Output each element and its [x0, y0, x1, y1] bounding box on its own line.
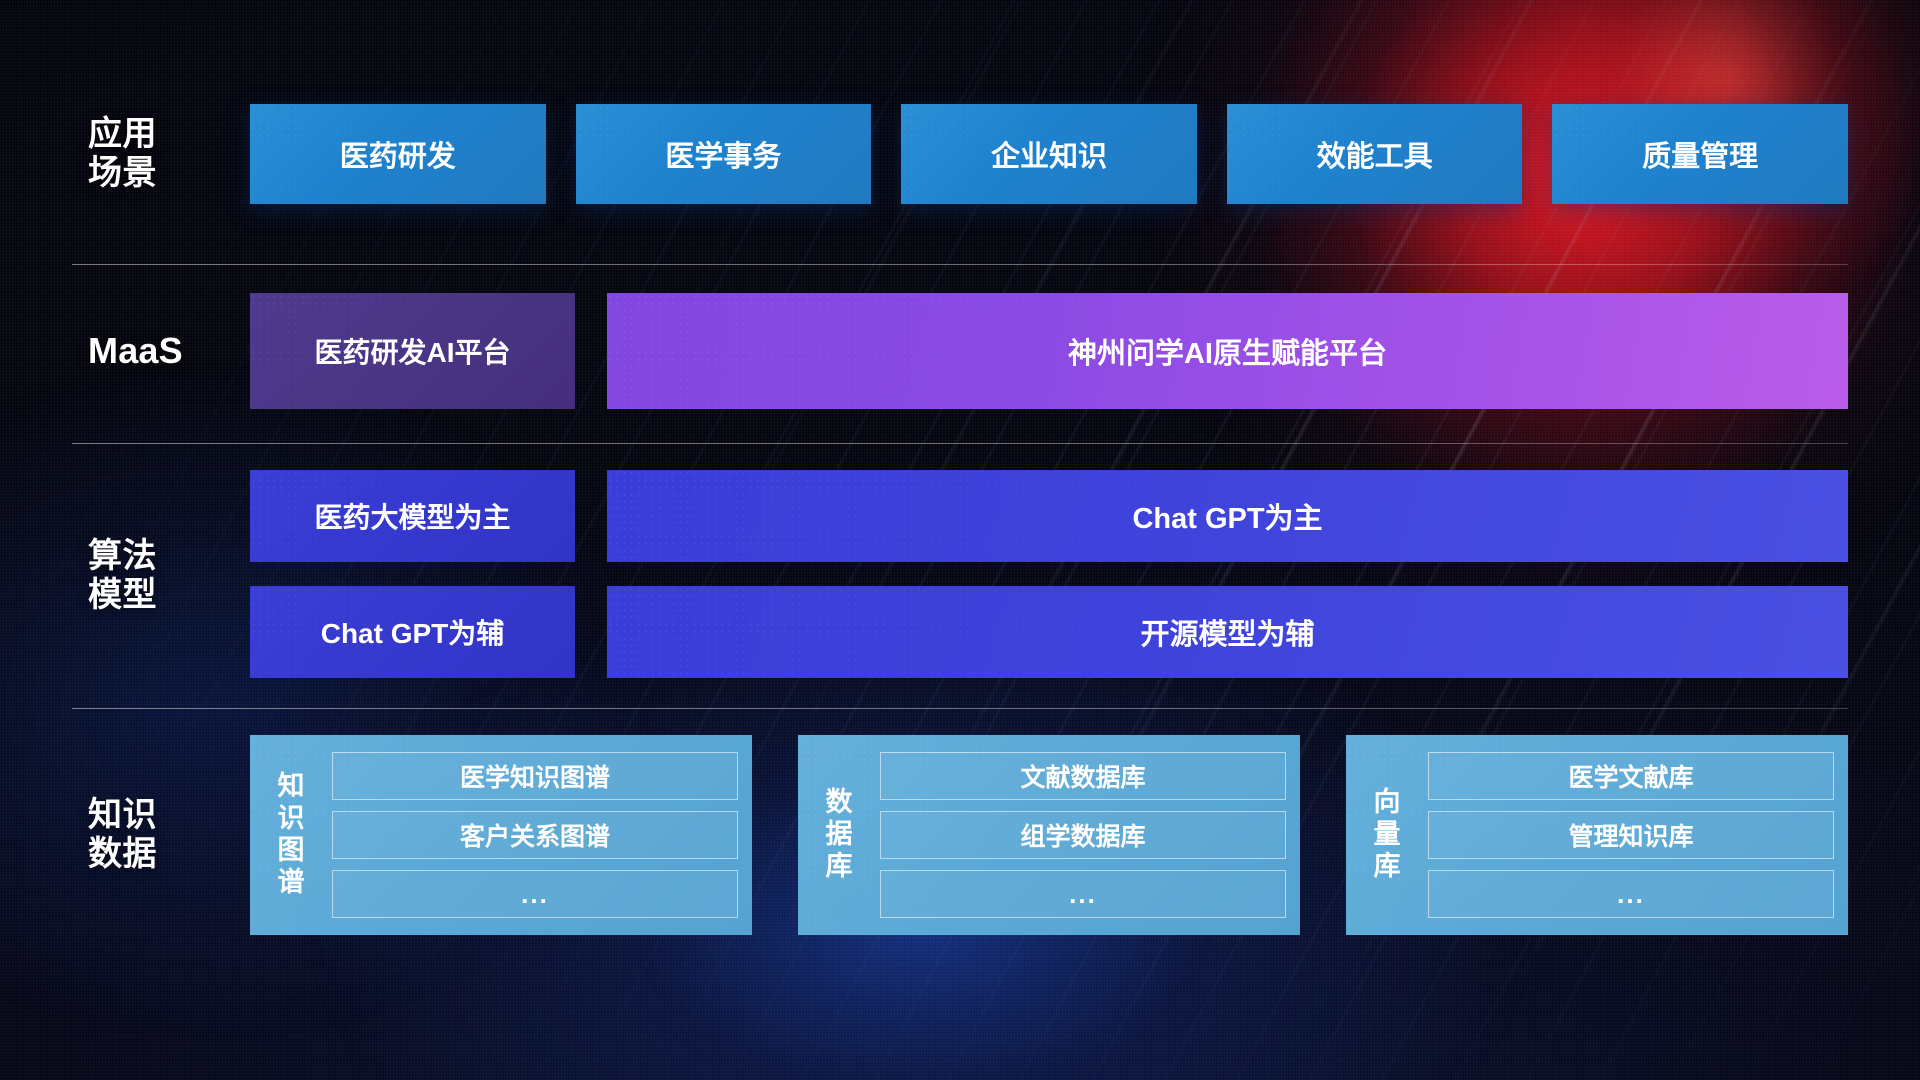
architecture-diagram: 应用 场景 医药研发 医学事务 企业知识 效能工具 质量管理	[0, 0, 1920, 1080]
row-label-knowledge-data: 知识 数据	[88, 735, 228, 935]
knowledge-item[interactable]: 文献数据库	[880, 752, 1286, 800]
row-label-line-1: 算法	[88, 537, 157, 576]
row-application-scenarios: 应用 场景 医药研发 医学事务 企业知识 效能工具 质量管理	[0, 104, 1920, 204]
scenario-card-2-label: 医学事务	[665, 133, 781, 175]
knowledge-group-graph-items: 医学知识图谱 客户关系图谱 ...	[322, 752, 738, 918]
algorithm-card-chatgpt-primary-label: Chat GPT为主	[1132, 495, 1322, 537]
scenario-card-1-label: 医药研发	[340, 133, 456, 175]
knowledge-item[interactable]: 组学数据库	[880, 811, 1286, 859]
scenario-card-5[interactable]: 质量管理	[1552, 104, 1848, 204]
title-char-3: 库	[1374, 851, 1401, 883]
algorithm-card-pharma-primary-label: 医药大模型为主	[314, 496, 510, 536]
title-char-1: 数	[826, 787, 853, 819]
knowledge-track: 知 识 图 谱 医学知识图谱 客户关系图谱 ... 数 据 库	[250, 735, 1848, 935]
knowledge-item[interactable]: 医学知识图谱	[332, 752, 738, 800]
row-label-line-1: 知识	[88, 796, 157, 835]
scenario-track: 医药研发 医学事务 企业知识 效能工具 质量管理	[250, 104, 1848, 204]
knowledge-item[interactable]: 管理知识库	[1428, 811, 1834, 859]
algorithm-card-opensource-secondary-label: 开源模型为辅	[1140, 611, 1314, 653]
maas-card-pharma-platform[interactable]: 医药研发AI平台	[250, 293, 575, 409]
knowledge-group-vector-store[interactable]: 向 量 库 医学文献库 管理知识库 ...	[1346, 735, 1848, 935]
row-knowledge-data: 知识 数据 知 识 图 谱 医学知识图谱 客户关系图谱 ...	[0, 735, 1920, 935]
knowledge-item-more[interactable]: ...	[880, 870, 1286, 918]
row-label-line-2: 数据	[88, 835, 157, 874]
algorithm-track-secondary: Chat GPT为辅 开源模型为辅	[250, 586, 1848, 678]
scenario-card-1[interactable]: 医药研发	[250, 104, 546, 204]
algorithm-card-chatgpt-secondary-label: Chat GPT为辅	[321, 612, 505, 652]
knowledge-group-database-items: 文献数据库 组学数据库 ...	[870, 752, 1286, 918]
row-label-algorithm-models: 算法 模型	[88, 470, 228, 682]
row-label-application-scenarios: 应用 场景	[88, 104, 228, 204]
maas-card-shenzhou-platform-label: 神州问学AI原生赋能平台	[1068, 330, 1387, 372]
algorithm-card-opensource-secondary[interactable]: 开源模型为辅	[607, 586, 1848, 678]
knowledge-item[interactable]: 客户关系图谱	[332, 811, 738, 859]
title-char-2: 据	[826, 819, 853, 851]
divider-3	[72, 708, 1848, 709]
title-char-1: 向	[1374, 787, 1401, 819]
scenario-card-3-label: 企业知识	[991, 133, 1107, 175]
scenario-card-4[interactable]: 效能工具	[1227, 104, 1523, 204]
row-algorithm-models: 算法 模型 医药大模型为主 Chat GPT为主 Chat GPT为辅 开源模型…	[0, 470, 1920, 682]
algorithm-card-pharma-primary[interactable]: 医药大模型为主	[250, 470, 575, 562]
divider-2	[72, 443, 1848, 444]
algorithm-card-chatgpt-primary[interactable]: Chat GPT为主	[607, 470, 1848, 562]
title-char-2: 识	[278, 803, 305, 835]
row-label-line-1: 应用	[88, 115, 157, 154]
scenario-card-2[interactable]: 医学事务	[576, 104, 872, 204]
knowledge-group-graph-title: 知 识 图 谱	[260, 771, 322, 898]
title-char-3: 图	[278, 835, 305, 867]
maas-track: 医药研发AI平台 神州问学AI原生赋能平台	[250, 293, 1848, 409]
row-label-line-1: MaaS	[88, 330, 183, 372]
title-char-4: 谱	[278, 867, 305, 899]
divider-1	[72, 264, 1848, 265]
row-maas: MaaS 医药研发AI平台 神州问学AI原生赋能平台	[0, 293, 1920, 409]
maas-card-pharma-platform-label: 医药研发AI平台	[314, 331, 510, 371]
scenario-card-4-label: 效能工具	[1317, 133, 1433, 175]
knowledge-group-vector-store-items: 医学文献库 管理知识库 ...	[1418, 752, 1834, 918]
knowledge-item-more[interactable]: ...	[1428, 870, 1834, 918]
algorithm-card-chatgpt-secondary[interactable]: Chat GPT为辅	[250, 586, 575, 678]
title-char-1: 知	[278, 771, 305, 803]
scenario-card-5-label: 质量管理	[1642, 133, 1758, 175]
row-label-line-2: 场景	[88, 154, 157, 193]
knowledge-group-graph[interactable]: 知 识 图 谱 医学知识图谱 客户关系图谱 ...	[250, 735, 752, 935]
row-label-maas: MaaS	[88, 293, 228, 409]
title-char-3: 库	[826, 851, 853, 883]
knowledge-group-vector-store-title: 向 量 库	[1356, 787, 1418, 883]
algorithm-track-primary: 医药大模型为主 Chat GPT为主	[250, 470, 1848, 562]
knowledge-group-database[interactable]: 数 据 库 文献数据库 组学数据库 ...	[798, 735, 1300, 935]
maas-card-shenzhou-platform[interactable]: 神州问学AI原生赋能平台	[607, 293, 1848, 409]
knowledge-group-database-title: 数 据 库	[808, 787, 870, 883]
knowledge-item[interactable]: 医学文献库	[1428, 752, 1834, 800]
scenario-card-3[interactable]: 企业知识	[901, 104, 1197, 204]
knowledge-item-more[interactable]: ...	[332, 870, 738, 918]
row-label-line-2: 模型	[88, 576, 157, 615]
title-char-2: 量	[1374, 819, 1401, 851]
